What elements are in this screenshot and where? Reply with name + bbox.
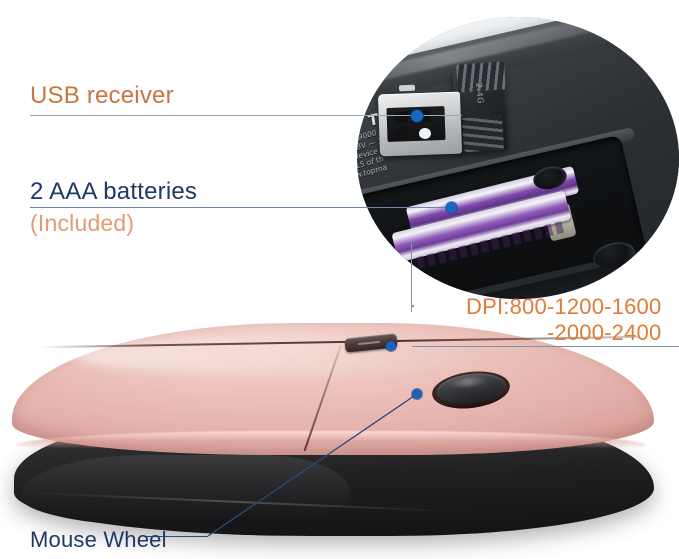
callout-label-usb-receiver: USB receiver [30, 82, 174, 110]
connector-dot-dpi-button [386, 341, 396, 351]
mouse-top-edge-highlight [16, 431, 646, 449]
callout-label-dpi: DPI:800-1200-1600 -2000-2400 [466, 294, 661, 346]
connector-dot-usb-receiver [411, 110, 423, 122]
mouse-base-front [20, 455, 350, 527]
connector-dot-batteries [446, 202, 457, 213]
usb-connector-notch [399, 85, 415, 92]
dpi-line-1: DPI:800-1200-1600 [466, 294, 661, 319]
usb-contact-pin [395, 129, 408, 140]
callout-label-batteries: 2 AAA batteries [30, 178, 197, 206]
leader-line-batteries [30, 207, 447, 208]
infographic-canvas: TOPMATE M KM9000ting:3V — 1bhis device c… [0, 0, 679, 559]
callout-label-mouse-wheel: Mouse Wheel [30, 527, 167, 553]
inset-circle-frame: TOPMATE M KM9000ting:3V — 1bhis device c… [357, 17, 679, 299]
usb-contact-pin [395, 112, 408, 123]
usb-receiver-cap-fins-bottom [462, 116, 504, 153]
leader-line-dpi [412, 346, 679, 347]
leader-line-inset-to-mouse [411, 240, 412, 312]
callout-sublabel-included: (Included) [30, 210, 134, 237]
leader-line-usb-receiver [30, 115, 462, 116]
inset-photo-usb-and-batteries: TOPMATE M KM9000ting:3V — 1bhis device c… [357, 17, 679, 299]
usb-receiver-label: 2.4G [474, 83, 484, 105]
connector-dot-scroll-wheel [412, 389, 422, 399]
dpi-line-2: -2000-2400 [466, 320, 661, 346]
